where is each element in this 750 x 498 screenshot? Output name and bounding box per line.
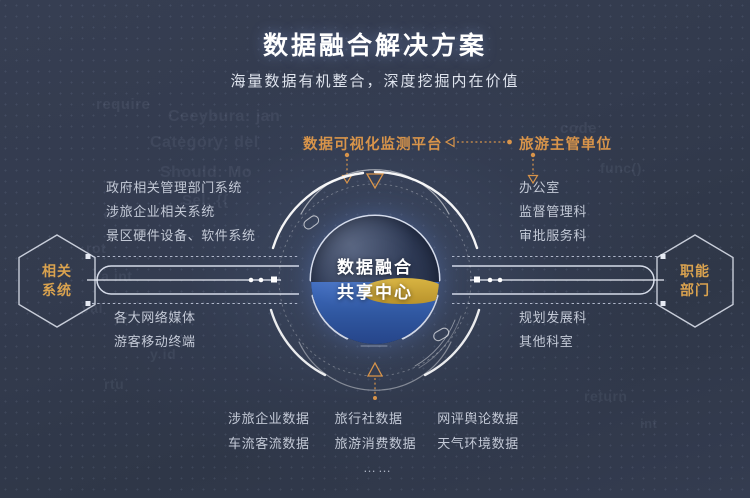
list-left-bottom-item: 游客移动终端 xyxy=(114,330,196,354)
list-left-bottom: 各大网络媒体游客移动终端 xyxy=(114,306,196,354)
top-labels-connector-icon xyxy=(438,133,516,151)
bottom-grid-row: 车流客流数据旅游消费数据天气环境数据 xyxy=(228,431,528,456)
list-right-bottom-item: 规划发展科 xyxy=(519,306,587,330)
code-watermark-text: require xyxy=(96,96,150,113)
list-right-top-item: 监督管理科 xyxy=(519,200,587,224)
center-line1: 数据融合 xyxy=(337,255,413,280)
list-right-bottom: 规划发展科其他科室 xyxy=(519,306,587,354)
code-watermark-text: Ceeybura: jan xyxy=(168,108,280,126)
center-line2: 共享中心 xyxy=(337,280,413,305)
bottom-grid-cell: 网评舆论数据 xyxy=(437,406,528,431)
center-sphere[interactable]: 数据融合 共享中心 xyxy=(311,216,439,344)
label-visualization-platform: 数据可视化监测平台 xyxy=(303,133,443,154)
code-watermark-text: rtu xyxy=(104,376,124,392)
bottom-data-grid: 涉旅企业数据旅行社数据网评舆论数据车流客流数据旅游消费数据天气环境数据 xyxy=(228,406,528,456)
bottom-grid-cell: 天气环境数据 xyxy=(437,431,528,456)
page-title: 数据融合解决方案 xyxy=(0,26,750,62)
infographic-canvas: requireCeeybura: janCategory: delShould:… xyxy=(0,0,750,498)
label-tourism-authority: 旅游主管单位 xyxy=(519,133,612,154)
code-watermark-text: Category: del xyxy=(150,134,259,152)
list-left-top-item: 政府相关管理部门系统 xyxy=(106,176,256,200)
page-subtitle: 海量数据有机整合，深度挖掘内在价值 xyxy=(0,70,750,91)
bottom-ellipsis: …… xyxy=(228,460,528,475)
list-right-top-item: 办公室 xyxy=(519,176,587,200)
list-left-top-item: 涉旅企业相关系统 xyxy=(106,200,256,224)
list-right-top-item: 审批服务科 xyxy=(519,224,587,248)
bottom-grid-row: 涉旅企业数据旅行社数据网评舆论数据 xyxy=(228,406,528,431)
bottom-grid-cell: 车流客流数据 xyxy=(228,431,335,456)
list-right-top: 办公室监督管理科审批服务科 xyxy=(519,176,587,248)
list-left-bottom-item: 各大网络媒体 xyxy=(114,306,196,330)
list-left-top: 政府相关管理部门系统涉旅企业相关系统景区硬件设备、软件系统 xyxy=(106,176,256,248)
list-left-top-item: 景区硬件设备、软件系统 xyxy=(106,224,256,248)
bottom-grid-cell: 旅行社数据 xyxy=(335,406,438,431)
bottom-grid-cell: 涉旅企业数据 xyxy=(228,406,335,431)
list-right-bottom-item: 其他科室 xyxy=(519,330,587,354)
code-watermark-text: int xyxy=(640,416,657,431)
code-watermark-text: func() xyxy=(600,160,642,176)
center-sphere-label: 数据融合 共享中心 xyxy=(311,216,439,344)
bottom-grid-cell: 旅游消费数据 xyxy=(335,431,438,456)
code-watermark-text: return xyxy=(584,388,627,404)
